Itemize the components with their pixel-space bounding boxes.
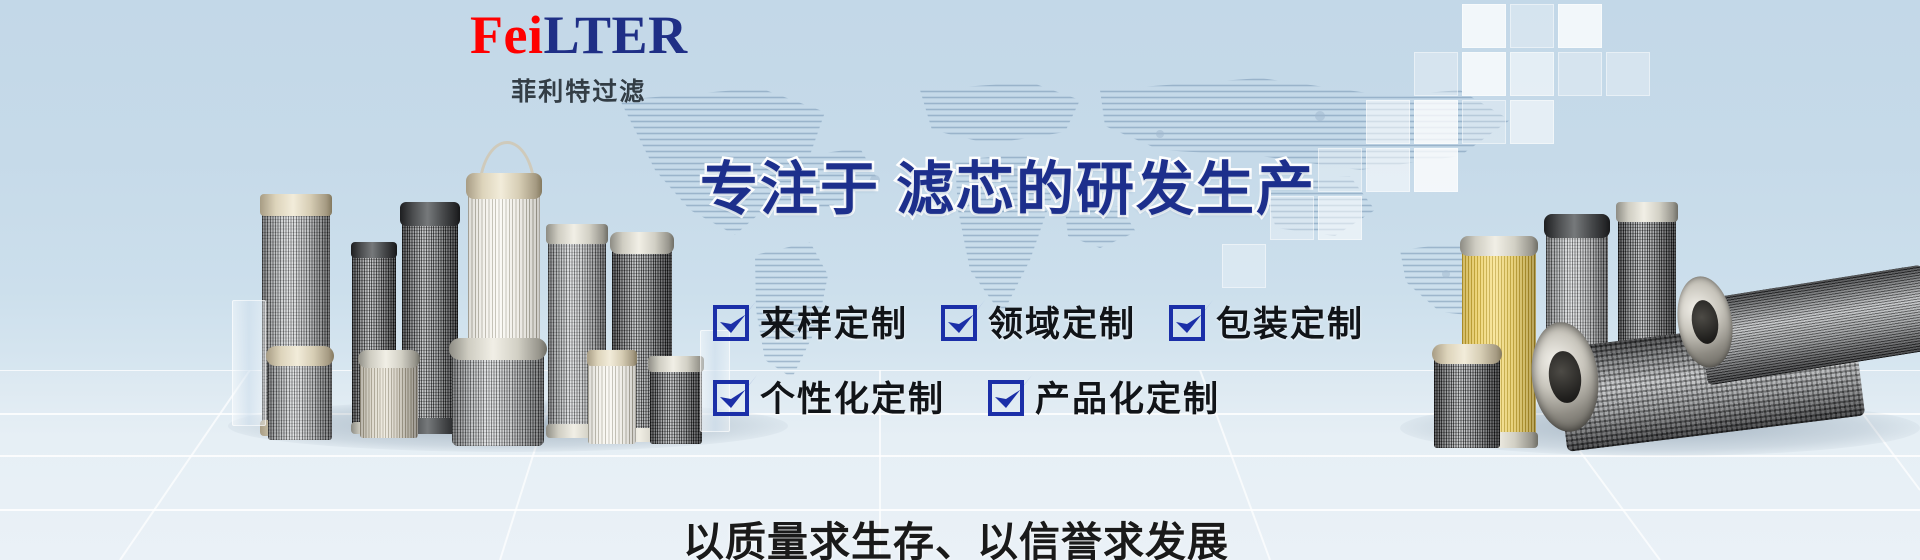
feature-label: 领域定制 (988, 296, 1136, 347)
filter-cartridge (588, 360, 636, 444)
tagline: 以质量求生存、以信誉求发展 (683, 508, 1229, 560)
filter-cartridge-laying (1695, 265, 1920, 386)
company-logo[interactable]: FeiLTER 菲利特过滤 (470, 8, 688, 108)
feature-item[interactable]: 领域定制 (942, 296, 1136, 347)
checkbox-checked-icon (942, 305, 976, 339)
headline-part-b: 滤芯的研发生产 (896, 155, 1316, 223)
checkbox-checked-icon (1170, 305, 1204, 339)
logo-wordmark: FeiLTER (470, 8, 688, 62)
feature-item[interactable]: 个性化定制 (714, 371, 945, 422)
filter-cartridge (268, 358, 332, 440)
logo-chinese-name: 菲利特过滤 (470, 72, 688, 108)
headline: 专注于滤芯的研发生产 (700, 142, 1316, 226)
filter-cartridge (1546, 230, 1608, 406)
headline-part-a: 专注于 (700, 155, 880, 223)
feature-row: 来样定制 领域定制 包装定制 (714, 296, 1364, 347)
cartridge-end-face (1671, 272, 1739, 371)
promo-banner: FeiLTER 菲利特过滤 专注于滤芯的研发生产 来样定制 (0, 0, 1920, 560)
feature-label: 来样定制 (760, 296, 908, 347)
feature-item[interactable]: 产品化定制 (989, 371, 1220, 422)
filter-cartridge (1434, 356, 1500, 448)
feature-label: 产品化定制 (1035, 371, 1220, 422)
checkbox-checked-icon (714, 380, 748, 414)
logo-word-fei: Fei (470, 5, 543, 65)
logo-word-lter: LTER (543, 5, 687, 65)
filter-cartridge (650, 366, 702, 444)
checkbox-checked-icon (989, 380, 1023, 414)
feature-item[interactable]: 来样定制 (714, 296, 908, 347)
filter-cartridge (360, 360, 418, 438)
feature-item[interactable]: 包装定制 (1170, 296, 1364, 347)
feature-list: 来样定制 领域定制 包装定制 (714, 296, 1364, 422)
feature-label: 包装定制 (1216, 296, 1364, 347)
feature-row: 个性化定制 产品化定制 (714, 371, 1364, 422)
filter-cartridge (452, 350, 544, 446)
feature-label: 个性化定制 (760, 371, 945, 422)
checkbox-checked-icon (714, 305, 748, 339)
filter-cartridge (1618, 214, 1676, 420)
